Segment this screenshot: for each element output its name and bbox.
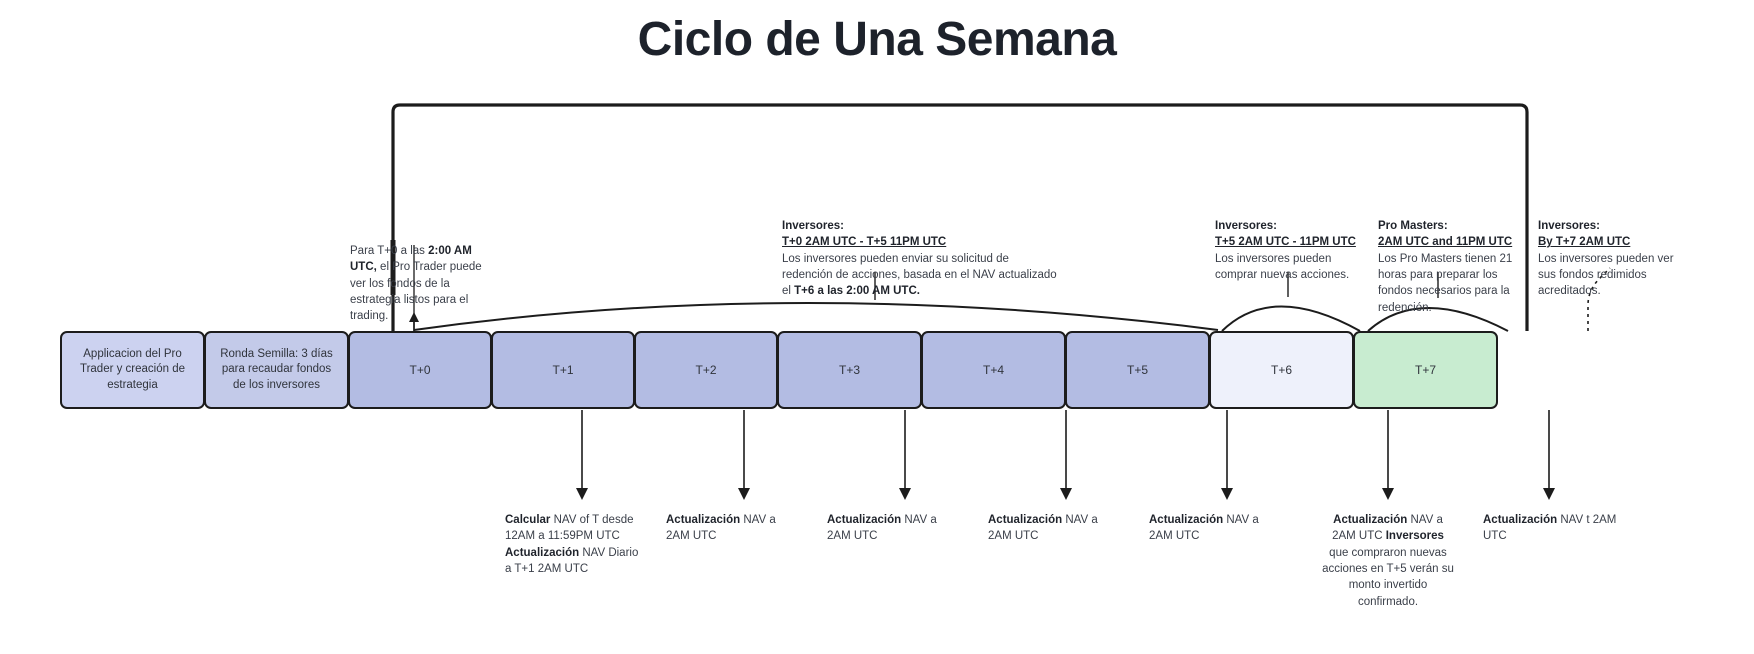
callout-t7: Actualización NAV t 2AM UTC bbox=[1483, 512, 1618, 545]
callout-t6-bold2: Inversores bbox=[1386, 530, 1444, 542]
timeline-cell-label: T+3 bbox=[839, 362, 860, 378]
timeline-cell-label: T+7 bbox=[1415, 362, 1436, 378]
note-investors-credited-body: Los inversores pueden ver sus fondos red… bbox=[1538, 253, 1674, 298]
timeline-cell-day-t7[interactable]: T+7 bbox=[1353, 331, 1498, 409]
note-investors-buy: Inversores: T+5 2AM UTC - 11PM UTC Los i… bbox=[1215, 218, 1360, 283]
timeline-cell-label: T+0 bbox=[409, 362, 430, 378]
callout-t6: Actualización NAV a 2AM UTC Inversores q… bbox=[1322, 512, 1454, 610]
callout-t0: Calcular NAV of T desde 12AM a 11:59PM U… bbox=[505, 512, 645, 577]
timeline-cell-day-t3[interactable]: T+3 bbox=[777, 331, 922, 409]
callout-t6-text2: que compraron nuevas acciones en T+5 ver… bbox=[1322, 547, 1454, 608]
timeline-cell-label: T+5 bbox=[1127, 362, 1148, 378]
timeline-cell-day-t1[interactable]: T+1 bbox=[491, 331, 635, 409]
note-investors-redemption-heading: Inversores: bbox=[782, 218, 1060, 234]
timeline-cell-day-t5[interactable]: T+5 bbox=[1065, 331, 1210, 409]
callout-t6-bold1: Actualización bbox=[1333, 514, 1407, 526]
callout-t3-bold1: Actualización bbox=[988, 514, 1062, 526]
timeline-cell-day-t4[interactable]: T+4 bbox=[921, 331, 1066, 409]
note-pro-masters-subheading: 2AM UTC and 11PM UTC bbox=[1378, 234, 1523, 250]
timeline-cell-day-t6[interactable]: T+6 bbox=[1209, 331, 1354, 409]
note-investors-credited-subheading: By T+7 2AM UTC bbox=[1538, 234, 1683, 250]
callout-t4: Actualización NAV a 2AM UTC bbox=[1149, 512, 1274, 545]
note-pro-trader: Para T+0 a las 2:00 AM UTC, el Pro Trade… bbox=[350, 243, 490, 325]
note-pro-masters-body: Los Pro Masters tienen 21 horas para pre… bbox=[1378, 253, 1512, 314]
timeline-cell-label: Ronda Semilla: 3 días para recaudar fond… bbox=[214, 347, 339, 394]
note-pro-masters-heading: Pro Masters: bbox=[1378, 218, 1523, 234]
timeline-cell-label: Applicacion del Pro Trader y creación de… bbox=[70, 347, 195, 394]
note-investors-redemption-body: Los inversores pueden enviar su solicitu… bbox=[782, 253, 1057, 298]
note-investors-redemption: Inversores: T+0 2AM UTC - T+5 11PM UTC L… bbox=[782, 218, 1060, 300]
page-title: Ciclo de Una Semana bbox=[0, 12, 1754, 67]
note-investors-buy-heading: Inversores: bbox=[1215, 218, 1360, 234]
timeline-cell-day-t2[interactable]: T+2 bbox=[634, 331, 778, 409]
note-investors-redemption-subheading: T+0 2AM UTC - T+5 11PM UTC bbox=[782, 234, 1060, 250]
callout-t2-bold1: Actualización bbox=[827, 514, 901, 526]
callout-t7-bold1: Actualización bbox=[1483, 514, 1557, 526]
note-pro-masters: Pro Masters: 2AM UTC and 11PM UTC Los Pr… bbox=[1378, 218, 1523, 316]
timeline-strip: Applicacion del Pro Trader y creación de… bbox=[60, 331, 1497, 409]
timeline-cell-phase-application[interactable]: Applicacion del Pro Trader y creación de… bbox=[60, 331, 205, 409]
callout-t0-bold2: Actualización bbox=[505, 547, 579, 559]
connector-lines bbox=[0, 0, 1754, 654]
diagram-canvas: Ciclo de Una Semana bbox=[0, 0, 1754, 654]
note-investors-credited-heading: Inversores: bbox=[1538, 218, 1683, 234]
timeline-cell-label: T+2 bbox=[695, 362, 716, 378]
callout-t1: Actualización NAV a 2AM UTC bbox=[666, 512, 791, 545]
callout-t0-bold1: Calcular bbox=[505, 514, 550, 526]
timeline-cell-label: T+1 bbox=[552, 362, 573, 378]
timeline-cell-label: T+4 bbox=[983, 362, 1004, 378]
callout-t1-bold1: Actualización bbox=[666, 514, 740, 526]
callout-t4-bold1: Actualización bbox=[1149, 514, 1223, 526]
note-investors-buy-body: Los inversores pueden comprar nuevas acc… bbox=[1215, 253, 1349, 281]
timeline-cell-phase-seed-round[interactable]: Ronda Semilla: 3 días para recaudar fond… bbox=[204, 331, 349, 409]
note-investors-buy-subheading: T+5 2AM UTC - 11PM UTC bbox=[1215, 234, 1360, 250]
callout-t2: Actualización NAV a 2AM UTC bbox=[827, 512, 952, 545]
timeline-cell-label: T+6 bbox=[1271, 362, 1292, 378]
note-investors-credited: Inversores: By T+7 2AM UTC Los inversore… bbox=[1538, 218, 1683, 300]
callout-t3: Actualización NAV a 2AM UTC bbox=[988, 512, 1113, 545]
timeline-cell-day-t0[interactable]: T+0 bbox=[348, 331, 492, 409]
